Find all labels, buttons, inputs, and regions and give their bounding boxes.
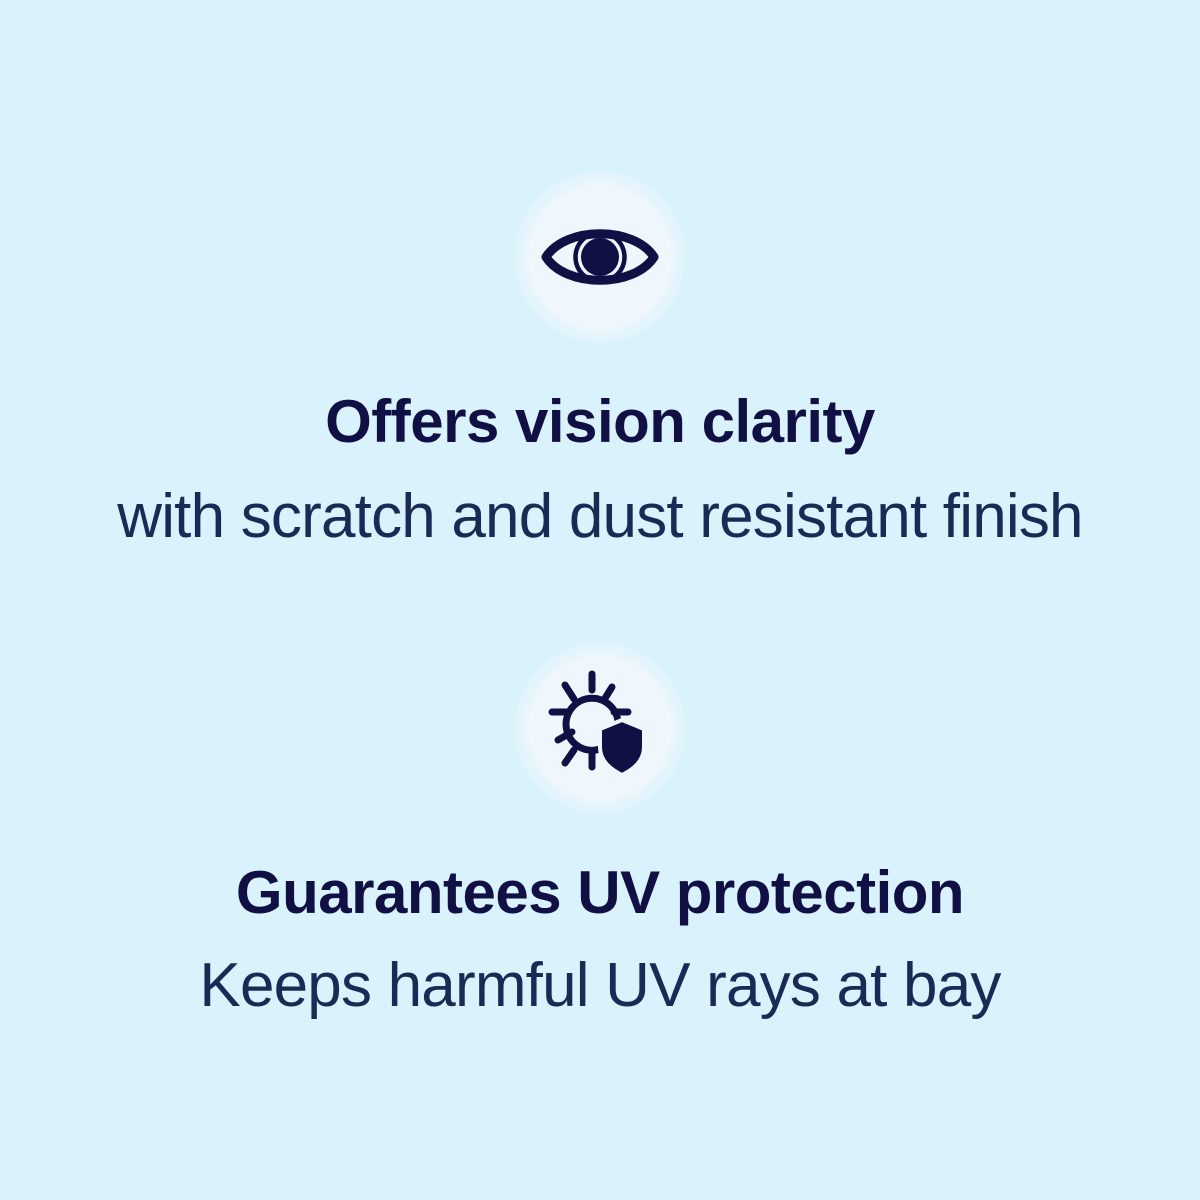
feature-highlights-panel: Offers vision clarity with scratch and d… [0, 0, 1200, 1200]
feature-title-uv-protection: Guarantees UV protection [236, 860, 964, 926]
sun-shield-uv-icon [540, 668, 660, 788]
sun-shield-uv-icon-badge [528, 656, 672, 800]
feature-block-uv-protection: Guarantees UV protection Keeps harmful U… [0, 656, 1200, 1020]
eye-icon [536, 193, 664, 321]
feature-subtitle-vision-clarity: with scratch and dust resistant finish [117, 483, 1083, 551]
feature-block-vision-clarity: Offers vision clarity with scratch and d… [0, 185, 1200, 551]
eye-icon-badge [528, 185, 672, 329]
feature-title-vision-clarity: Offers vision clarity [325, 389, 875, 455]
feature-subtitle-uv-protection: Keeps harmful UV rays at bay [199, 952, 1000, 1020]
